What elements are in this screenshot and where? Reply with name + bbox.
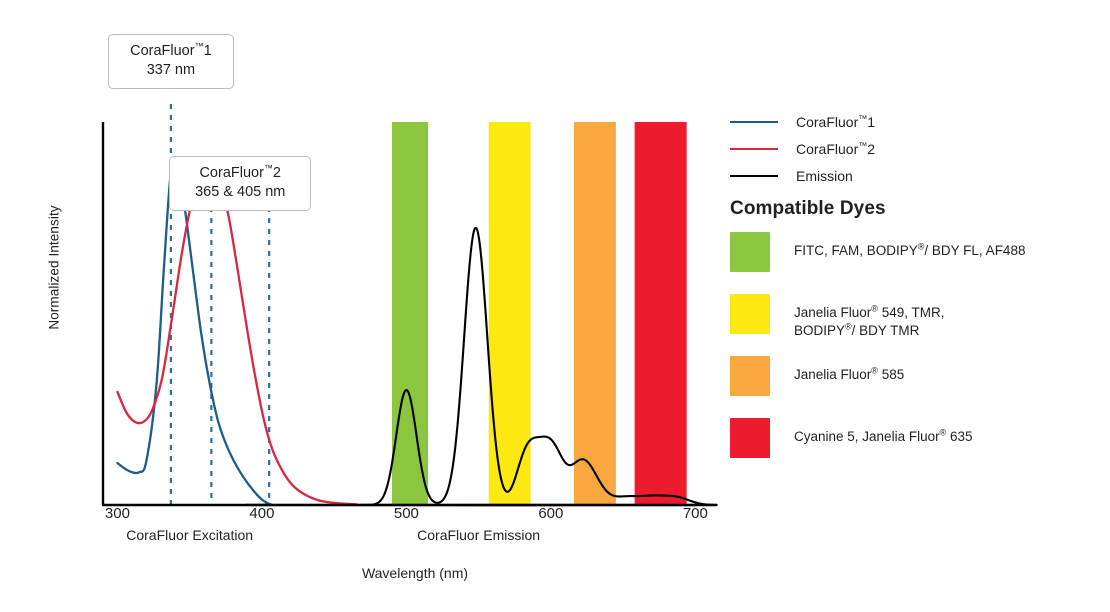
legend-line-swatch xyxy=(730,148,778,150)
red-band xyxy=(635,122,687,505)
callout-corafluor-1: CoraFluor™1 337 nm xyxy=(108,34,234,89)
dye-label-line: Janelia Fluor® 549, TMR, xyxy=(794,304,944,322)
dye-label: Janelia Fluor® 585 xyxy=(794,356,904,384)
right-panel: CoraFluor™1CoraFluor™2Emission Compatibl… xyxy=(730,0,1110,612)
x-axis-title: Wavelength (nm) xyxy=(265,565,565,581)
dye-color-swatch xyxy=(730,232,770,272)
compatible-dyes-title: Compatible Dyes xyxy=(730,198,886,220)
green-band xyxy=(392,122,428,505)
dye-label: Janelia Fluor® 549, TMR,BODIPY®/ BDY TMR xyxy=(794,294,944,340)
dye-label: FITC, FAM, BODIPY®/ BDY FL, AF488 xyxy=(794,232,1025,260)
callout-1-value: 337 nm xyxy=(121,61,221,80)
legend-item-label: CoraFluor™1 xyxy=(796,114,875,130)
legend-item-label: CoraFluor™2 xyxy=(796,141,875,157)
dye-label-line: FITC, FAM, BODIPY®/ BDY FL, AF488 xyxy=(794,242,1025,260)
legend-item-1: CoraFluor™1 xyxy=(730,108,875,135)
dye-item: FITC, FAM, BODIPY®/ BDY FL, AF488 xyxy=(730,232,1110,294)
dye-color-swatch xyxy=(730,418,770,458)
emission-range-label: CoraFluor Emission xyxy=(349,527,609,543)
x-tick-700: 700 xyxy=(665,505,725,522)
orange-band xyxy=(574,122,616,505)
dye-item: Cyanine 5, Janelia Fluor® 635 xyxy=(730,418,1110,480)
excitation-range-label: CoraFluor Excitation xyxy=(60,527,320,543)
legend-line-swatch xyxy=(730,175,778,177)
dye-label-line: Cyanine 5, Janelia Fluor® 635 xyxy=(794,428,973,446)
x-tick-500: 500 xyxy=(376,505,436,522)
dye-label-line: BODIPY®/ BDY TMR xyxy=(794,322,944,340)
x-tick-400: 400 xyxy=(232,505,292,522)
legend-line-swatch xyxy=(730,121,778,123)
dye-color-swatch xyxy=(730,294,770,334)
x-tick-300: 300 xyxy=(87,505,147,522)
figure-root: Normalized Intensity Wavelength (nm) 300… xyxy=(0,0,1110,612)
y-axis-title: Normalized Intensity xyxy=(47,178,62,358)
chart-area: Normalized Intensity Wavelength (nm) 300… xyxy=(0,0,730,612)
dye-item: Janelia Fluor® 585 xyxy=(730,356,1110,418)
legend-item-3: Emission xyxy=(730,162,875,189)
x-tick-600: 600 xyxy=(521,505,581,522)
dye-color-swatch xyxy=(730,356,770,396)
legend-item-2: CoraFluor™2 xyxy=(730,135,875,162)
legend-item-label: Emission xyxy=(796,168,853,184)
compatible-dyes-list: FITC, FAM, BODIPY®/ BDY FL, AF488Janelia… xyxy=(730,232,1110,480)
callout-corafluor-2: CoraFluor™2 365 & 405 nm xyxy=(169,156,311,211)
dye-item: Janelia Fluor® 549, TMR,BODIPY®/ BDY TMR xyxy=(730,294,1110,356)
dye-label-line: Janelia Fluor® 585 xyxy=(794,366,904,384)
dye-label: Cyanine 5, Janelia Fluor® 635 xyxy=(794,418,973,446)
series-legend: CoraFluor™1CoraFluor™2Emission xyxy=(730,108,875,189)
callout-2-value: 365 & 405 nm xyxy=(182,183,298,202)
